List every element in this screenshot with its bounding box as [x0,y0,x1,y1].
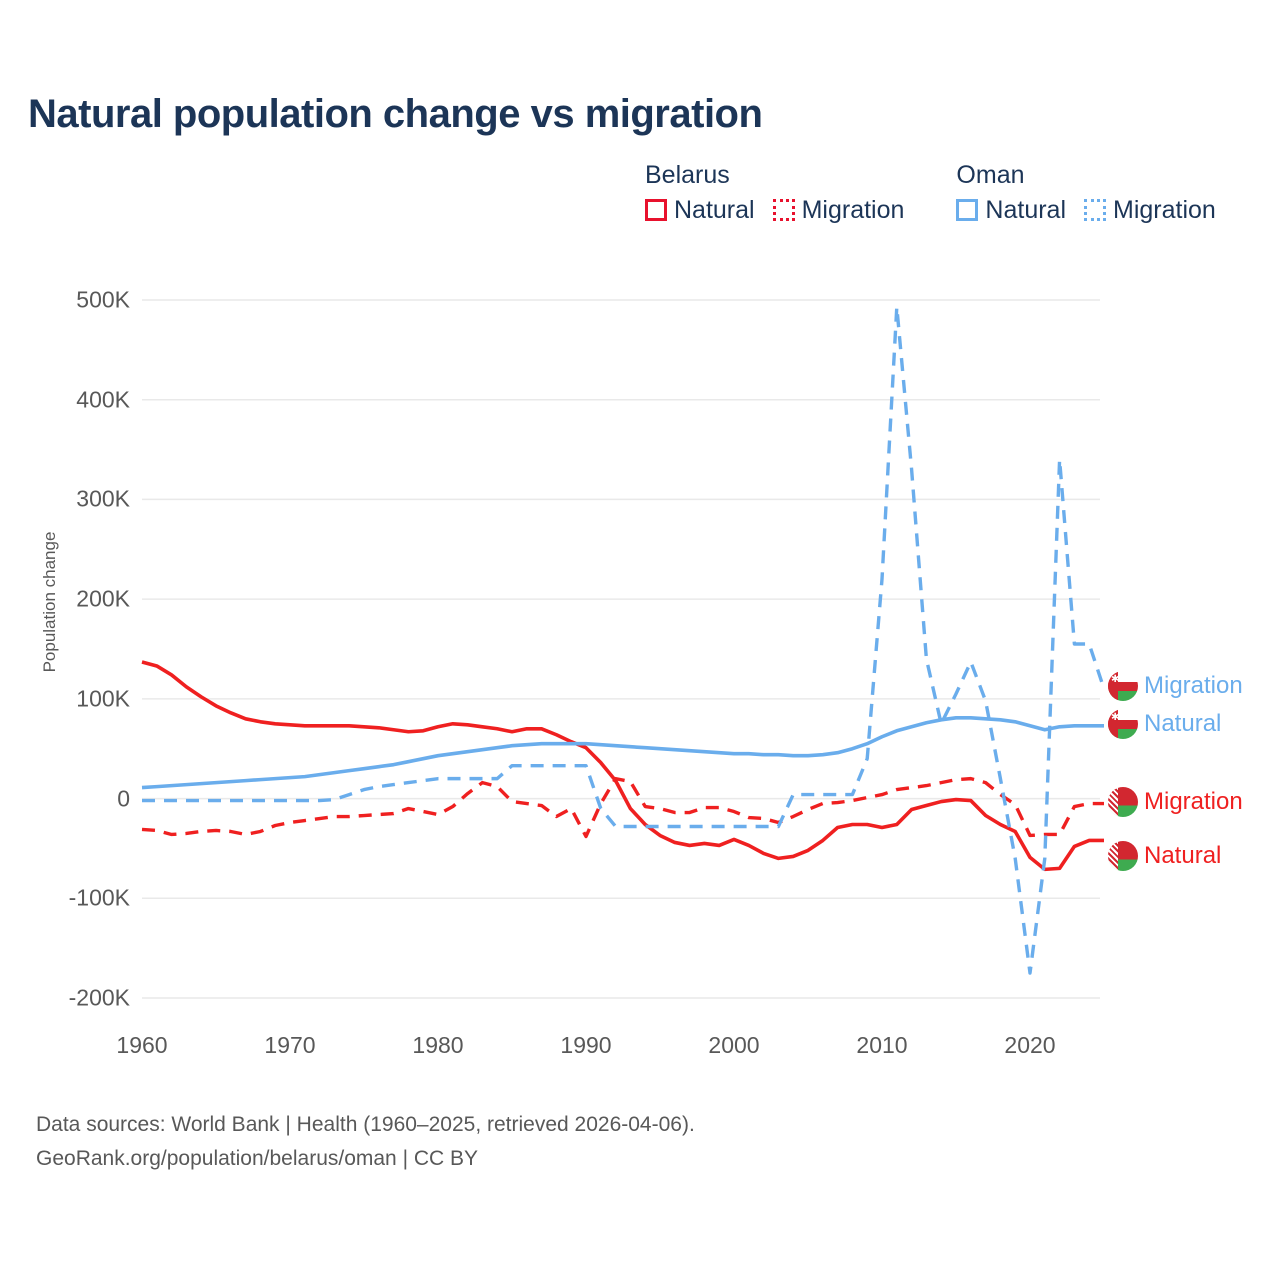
x-tick-label: 2000 [708,1032,759,1059]
footer: Data sources: World Bank | Health (1960–… [36,1108,695,1176]
legend-group-belarus: BelarusNaturalMigration [645,162,904,225]
y-tick-label: 300K [20,486,130,513]
x-tick-label: 1980 [412,1032,463,1059]
end-label-text: Natural [1144,710,1221,738]
belarus-flag-icon [1108,787,1138,817]
legend-entry-row: NaturalMigration [956,196,1215,225]
series-line-belarus-migration [142,779,1104,837]
legend-item-belarus-migration[interactable]: Migration [773,196,905,225]
y-tick-label: 200K [20,586,130,613]
series-line-oman-natural [142,718,1104,788]
y-tick-label: 0 [20,785,130,812]
y-tick-label: 400K [20,386,130,413]
end-label-text: Natural [1144,842,1221,870]
series-line-oman-migration [142,307,1104,973]
legend-item-oman-migration[interactable]: Migration [1084,196,1216,225]
end-label-text: Migration [1144,672,1243,700]
legend-swatch-dotted-icon [773,199,795,221]
end-label-text: Migration [1144,788,1243,816]
end-label-oman-natural[interactable]: ✱Natural [1108,709,1221,739]
footer-line-url[interactable]: GeoRank.org/population/belarus/oman | CC… [36,1142,695,1176]
x-tick-label: 2020 [1004,1032,1055,1059]
x-tick-label: 1990 [560,1032,611,1059]
end-label-belarus-migration[interactable]: Migration [1108,787,1243,817]
page-title: Natural population change vs migration [28,92,762,137]
legend-item-label: Natural [674,196,755,225]
legend-swatch-solid-icon [645,199,667,221]
x-tick-label: 1970 [264,1032,315,1059]
legend-country-label: Belarus [645,162,904,190]
y-tick-label: -100K [20,885,130,912]
y-tick-label: -200K [20,985,130,1012]
oman-flag-icon: ✱ [1108,709,1138,739]
footer-line-sources: Data sources: World Bank | Health (1960–… [36,1108,695,1142]
chart-page: Natural population change vs migration B… [0,0,1280,1280]
end-label-oman-migration[interactable]: ✱Migration [1108,671,1243,701]
legend-item-label: Natural [985,196,1066,225]
oman-flag-icon: ✱ [1108,671,1138,701]
end-label-belarus-natural[interactable]: Natural [1108,841,1221,871]
legend-item-oman-natural[interactable]: Natural [956,196,1066,225]
belarus-flag-icon [1108,841,1138,871]
x-tick-label: 2010 [856,1032,907,1059]
legend: BelarusNaturalMigrationOmanNaturalMigrat… [645,162,1216,225]
x-tick-label: 1960 [116,1032,167,1059]
legend-swatch-solid-icon [956,199,978,221]
y-tick-label: 100K [20,685,130,712]
series-line-belarus-natural [142,662,1104,869]
legend-entry-row: NaturalMigration [645,196,904,225]
y-tick-label: 500K [20,287,130,314]
legend-item-belarus-natural[interactable]: Natural [645,196,755,225]
legend-group-oman: OmanNaturalMigration [956,162,1215,225]
legend-item-label: Migration [802,196,905,225]
legend-item-label: Migration [1113,196,1216,225]
legend-swatch-dotted-icon [1084,199,1106,221]
legend-country-label: Oman [956,162,1215,190]
